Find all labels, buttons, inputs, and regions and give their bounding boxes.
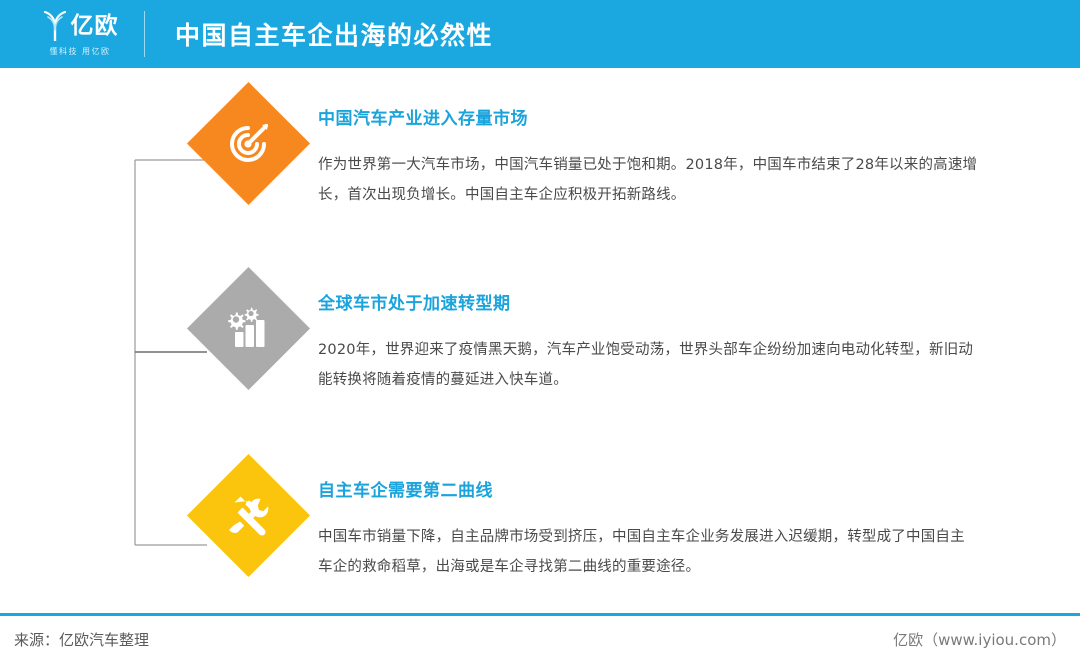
footer-source: 来源：亿欧汽车整理 — [14, 629, 149, 650]
target-dart-icon — [205, 100, 292, 187]
logo-tagline: 懂科技 用亿欧 — [49, 46, 110, 57]
block-text: 全球车市处于加速转型期 2020年，世界迎来了疫情黑天鹅，汽车产业饱受动荡，世界… — [318, 285, 978, 395]
block-icon-diamond — [190, 100, 310, 220]
block-text: 中国汽车产业进入存量市场 作为世界第一大汽车市场，中国汽车销量已处于饱和期。20… — [318, 100, 978, 210]
logo-wordmark: 亿欧 — [71, 15, 119, 38]
page-header: 亿欧 懂科技 用亿欧 中国自主车企出海的必然性 — [0, 0, 1080, 68]
block-body: 作为世界第一大汽车市场，中国汽车销量已处于饱和期。2018年，中国车市结束了28… — [318, 151, 978, 210]
page-footer: 来源：亿欧汽车整理 亿欧（www.iyiou.com） — [0, 616, 1080, 662]
block-heading: 中国汽车产业进入存量市场 — [318, 104, 978, 129]
content-block: 自主车企需要第二曲线 中国车市销量下降，自主品牌市场受到挤压，中国自主车企业务发… — [190, 472, 978, 592]
content-block: 中国汽车产业进入存量市场 作为世界第一大汽车市场，中国汽车销量已处于饱和期。20… — [190, 100, 978, 220]
block-heading: 自主车企需要第二曲线 — [318, 476, 978, 501]
header-divider — [144, 11, 145, 57]
block-icon-diamond — [190, 285, 310, 405]
logo-main: 亿欧 — [42, 11, 119, 41]
brand-logo[interactable]: 亿欧 懂科技 用亿欧 — [24, 11, 136, 57]
footer-site: 亿欧（www.iyiou.com） — [893, 629, 1066, 650]
block-icon-diamond — [190, 472, 310, 592]
block-body: 2020年，世界迎来了疫情黑天鹅，汽车产业饱受动荡，世界头部车企纷纷加速向电动化… — [318, 336, 978, 395]
block-body: 中国车市销量下降，自主品牌市场受到挤压，中国自主车企业务发展进入迟缓期，转型成了… — [318, 523, 978, 582]
hammer-wrench-icon — [205, 472, 292, 559]
block-text: 自主车企需要第二曲线 中国车市销量下降，自主品牌市场受到挤压，中国自主车企业务发… — [318, 472, 978, 582]
yiou-tree-logo-icon — [42, 11, 68, 41]
gears-bar-chart-icon — [205, 285, 292, 372]
page-title: 中国自主车企出海的必然性 — [175, 16, 493, 52]
block-heading: 全球车市处于加速转型期 — [318, 289, 978, 314]
content-block: 全球车市处于加速转型期 2020年，世界迎来了疫情黑天鹅，汽车产业饱受动荡，世界… — [190, 285, 978, 405]
